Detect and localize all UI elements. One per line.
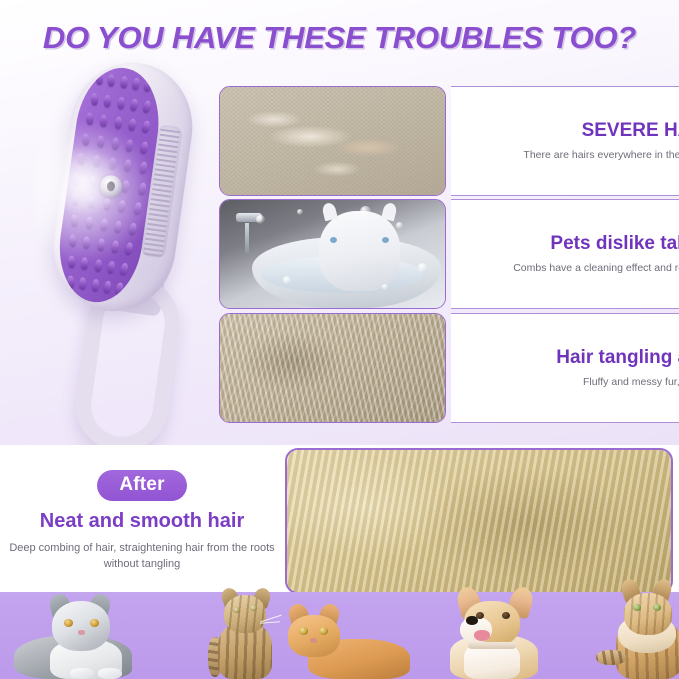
bubble	[283, 276, 291, 284]
dog-eye-right	[502, 612, 510, 619]
cat-eye-left	[299, 627, 308, 635]
bristle	[97, 238, 105, 251]
cat-eye-left	[330, 237, 337, 243]
comb-tooth	[144, 247, 164, 252]
comb-tooth	[144, 243, 164, 248]
bristle	[141, 120, 151, 133]
trouble-row: Hair tangling and disorder Fluffy and me…	[219, 313, 679, 425]
bristle	[81, 257, 88, 269]
comb-tooth	[146, 228, 166, 233]
bristle	[85, 216, 92, 228]
cat-eye-right	[250, 605, 257, 611]
white-cat	[319, 211, 400, 291]
trouble-text-card: Hair tangling and disorder Fluffy and me…	[451, 313, 679, 423]
comb-tooth	[160, 134, 180, 139]
after-subtitle: Deep combing of hair, straightening hair…	[6, 541, 278, 572]
dog-nose	[466, 616, 478, 625]
cat-head	[288, 615, 340, 657]
after-text-block: After Neat and smooth hair Deep combing …	[6, 448, 278, 594]
nozzle-hole	[106, 181, 115, 192]
trouble-subtitle: Combs have a cleaning effect and reduce …	[513, 261, 679, 275]
bristle	[67, 276, 74, 288]
comb-tooth	[147, 223, 167, 228]
comb-tooth	[160, 129, 180, 134]
bristle	[114, 282, 124, 295]
comb-tooth	[153, 183, 173, 188]
comb-tooth	[152, 188, 172, 193]
bristle	[100, 115, 107, 127]
cat-whisker	[260, 621, 280, 623]
bristle	[127, 118, 136, 131]
bubble	[396, 222, 403, 229]
cat-paw	[98, 668, 122, 679]
bubble	[256, 215, 265, 224]
comb-tooth	[158, 144, 178, 149]
comb-tooth	[151, 193, 171, 198]
cat-eye-right	[319, 627, 328, 635]
bristle	[91, 93, 98, 105]
bristle	[103, 280, 112, 293]
bristle	[143, 79, 153, 92]
bubble	[360, 206, 371, 217]
bristle	[128, 222, 138, 235]
page-title: DO YOU HAVE THESE TROUBLES TOO?	[0, 20, 679, 56]
after-title: Neat and smooth hair	[40, 510, 244, 533]
bristle	[79, 277, 86, 289]
cat-eye-right	[382, 237, 389, 243]
trouble-row: SEVERE HAIR LOSS There are hairs everywh…	[219, 86, 679, 198]
trouble-subtitle: Fluffy and messy fur, poor pet condition	[583, 375, 679, 389]
bristle	[114, 220, 123, 233]
bristle	[104, 94, 111, 106]
cat-eye-left	[64, 619, 73, 627]
bristle	[140, 140, 150, 153]
bristle	[86, 113, 93, 125]
cat-ear-left	[321, 201, 338, 221]
pets-row	[0, 592, 679, 679]
dog-collar	[468, 642, 516, 649]
bristle	[111, 137, 119, 150]
silicone-bristle-pad	[52, 62, 166, 307]
bristle	[82, 133, 89, 145]
trouble-title: SEVERE HAIR LOSS	[582, 120, 679, 141]
trouble-text-card: Pets dislike taking showers Combs have a…	[451, 199, 679, 309]
comb-tooth	[150, 203, 170, 208]
cat-paw	[596, 650, 626, 665]
pet-hair-on-carpet-photo	[219, 86, 446, 196]
bristle	[125, 139, 134, 152]
smooth-golden-fur-photo	[285, 448, 673, 594]
orange-tabby-cat	[288, 615, 410, 679]
comb-tooth	[157, 148, 177, 153]
bristle	[96, 73, 103, 85]
steam-brush-product-image	[40, 62, 225, 437]
trouble-title: Pets dislike taking showers	[550, 233, 679, 254]
comb-tooth	[146, 233, 166, 238]
comb-tooth	[155, 168, 175, 173]
bristle	[142, 99, 152, 112]
corgi-dog	[432, 592, 554, 679]
after-card: After Neat and smooth hair Deep combing …	[6, 448, 673, 594]
bristle	[139, 161, 149, 174]
bathroom-scene	[220, 200, 445, 308]
bristle	[83, 236, 90, 248]
comb-tooth	[159, 139, 179, 144]
comb-tooth	[145, 238, 165, 243]
bristle	[100, 218, 108, 231]
bristle	[114, 116, 122, 129]
cat-head	[624, 593, 672, 635]
comb-tooth	[148, 213, 168, 218]
bubble	[297, 209, 303, 215]
grey-white-shorthair-cat	[14, 603, 142, 679]
bristle	[68, 255, 75, 267]
tangled-fur-photo	[219, 313, 446, 423]
trouble-text-card: SEVERE HAIR LOSS There are hairs everywh…	[451, 86, 679, 196]
bristle	[106, 260, 115, 273]
bristle	[108, 74, 115, 86]
bubble	[418, 263, 427, 272]
cat-eye-left	[633, 604, 641, 611]
cat-head	[52, 601, 110, 651]
comb-tooth	[154, 173, 174, 178]
bristle	[124, 242, 134, 255]
cat-in-bathtub-photo	[219, 199, 446, 309]
bristle	[129, 98, 138, 111]
cat-eye-right	[90, 619, 99, 627]
bristle	[69, 234, 76, 246]
troubles-section: DO YOU HAVE THESE TROUBLES TOO?	[0, 0, 679, 445]
bristle	[119, 262, 129, 275]
trouble-row: Pets dislike taking showers Combs have a…	[219, 199, 679, 311]
water-stream	[245, 223, 249, 253]
comb-tooth	[148, 218, 168, 223]
comb-tooth	[157, 153, 177, 158]
standing-tabby-cat	[210, 595, 282, 679]
product-poster: DO YOU HAVE THESE TROUBLES TOO?	[0, 0, 679, 679]
smooth-fur-texture	[287, 450, 671, 592]
bristle	[117, 96, 125, 109]
messy-fur-texture	[220, 314, 445, 422]
longhaired-maine-coon-cat	[600, 592, 679, 679]
comb-tooth	[150, 198, 170, 203]
after-badge: After	[97, 470, 186, 501]
bristle	[131, 77, 140, 90]
cat-eye-left	[233, 607, 240, 613]
comb-tooth	[143, 252, 163, 257]
cat-eye-right	[653, 604, 661, 611]
bristle	[97, 135, 104, 147]
bristle	[70, 214, 77, 226]
trouble-title: Hair tangling and disorder	[556, 347, 679, 368]
bristle	[133, 202, 143, 215]
brush-head	[45, 55, 201, 320]
cat-nose	[310, 638, 317, 643]
cat-nose	[78, 630, 85, 635]
carpet-texture	[220, 87, 445, 195]
cat-paw	[70, 668, 94, 679]
comb-tooth	[149, 208, 169, 213]
comb-tooth	[153, 178, 173, 183]
trouble-subtitle: There are hairs everywhere in the house …	[523, 148, 679, 162]
cat-head	[224, 595, 266, 633]
bristle	[110, 240, 119, 253]
comb-tooth	[156, 158, 176, 163]
comb-tooth	[155, 163, 175, 168]
cat-ear-right	[381, 201, 398, 221]
after-section: After Neat and smooth hair Deep combing …	[0, 445, 679, 679]
bristle	[138, 182, 148, 195]
bristle	[91, 279, 99, 292]
dog-tongue	[474, 630, 490, 641]
bristle	[94, 258, 102, 271]
bristle	[120, 76, 128, 89]
